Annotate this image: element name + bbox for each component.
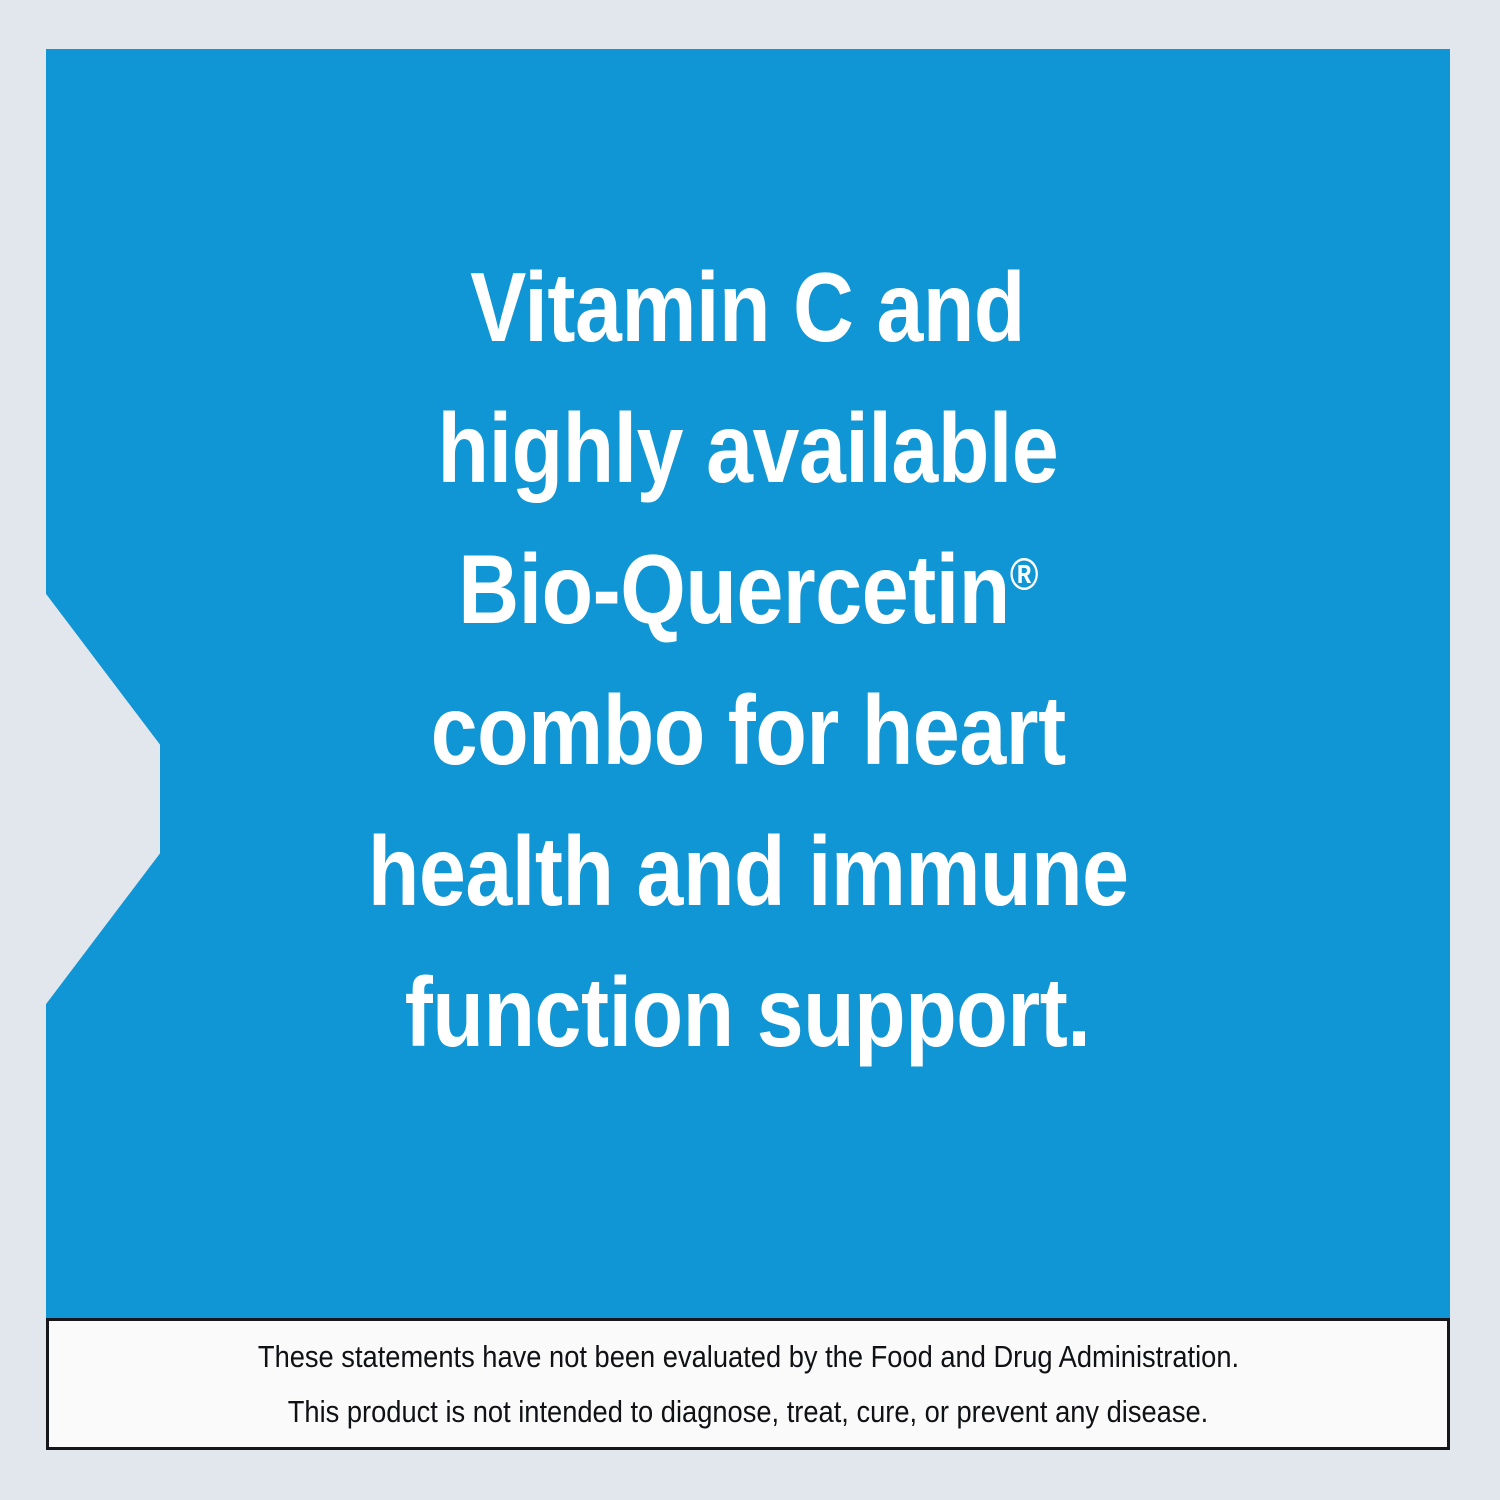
disclaimer-line-2: This product is not intended to diagnose… [288, 1384, 1208, 1439]
headline-line-3: Bio-Quercetin® [458, 519, 1038, 660]
hero-panel: Vitamin C and highly available Bio-Querc… [46, 49, 1450, 1319]
headline-line-5: health and immune [368, 801, 1129, 942]
headline-line-1: Vitamin C and [471, 237, 1026, 378]
headline-line-2: highly available [438, 378, 1059, 519]
headline-line-6: function support. [405, 942, 1091, 1083]
fda-disclaimer-box: These statements have not been evaluated… [46, 1318, 1450, 1450]
headline-line-3-text: Bio-Quercetin [458, 534, 1010, 644]
headline-line-4: combo for heart [430, 660, 1065, 801]
disclaimer-line-1: These statements have not been evaluated… [257, 1329, 1238, 1384]
registered-trademark-icon: ® [1010, 548, 1038, 599]
product-claim-graphic: Vitamin C and highly available Bio-Querc… [0, 0, 1500, 1500]
headline-block: Vitamin C and highly available Bio-Querc… [46, 49, 1450, 1319]
